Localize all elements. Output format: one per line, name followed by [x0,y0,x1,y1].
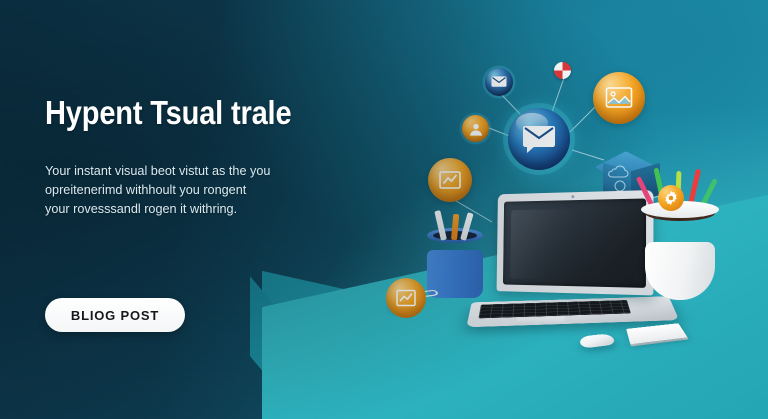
subtext-line-3: your rovesssandl rogen it withring. [45,200,362,219]
image-icon [604,84,634,112]
pot-body [645,242,715,300]
image-bubble [593,72,645,124]
webcam-icon [571,195,574,198]
subtext-line-2: opreitenerimd withhoult you rongent [45,181,362,200]
screen-glare [510,209,594,280]
laptop-lid [497,190,654,295]
gear-icon [663,190,680,207]
chart-icon [395,287,417,309]
plant-pot [637,205,723,300]
chart-bubble-bottom [386,278,426,318]
gear-bubble [658,185,684,211]
laptop-base [466,296,679,327]
envelope-bubble-main [508,108,570,170]
chart-icon [438,168,462,192]
laptop-trackpad [517,317,565,325]
chart-bubble-left [428,158,472,202]
envelope-icon [522,124,556,154]
envelope-icon [492,76,507,88]
location-pin-bubble [554,62,571,79]
person-icon [468,121,483,136]
hero-banner: Hypent Tsual trale Your instant visual b… [0,0,768,419]
banner-copy: Hypent Tsual trale Your instant visual b… [45,95,375,219]
pen-cup [427,228,483,298]
envelope-bubble-small [485,68,513,96]
person-bubble [462,115,489,142]
laptop-keyboard [478,300,630,318]
banner-subtext: Your instant visual beot vistut as the y… [45,162,362,218]
page-title: Hypent Tsual trale [45,95,335,131]
laptop-screen [503,198,646,287]
subtext-line-1: Your instant visual beot vistut as the y… [45,162,362,181]
blog-post-button[interactable]: BLIOG POST [45,298,185,332]
